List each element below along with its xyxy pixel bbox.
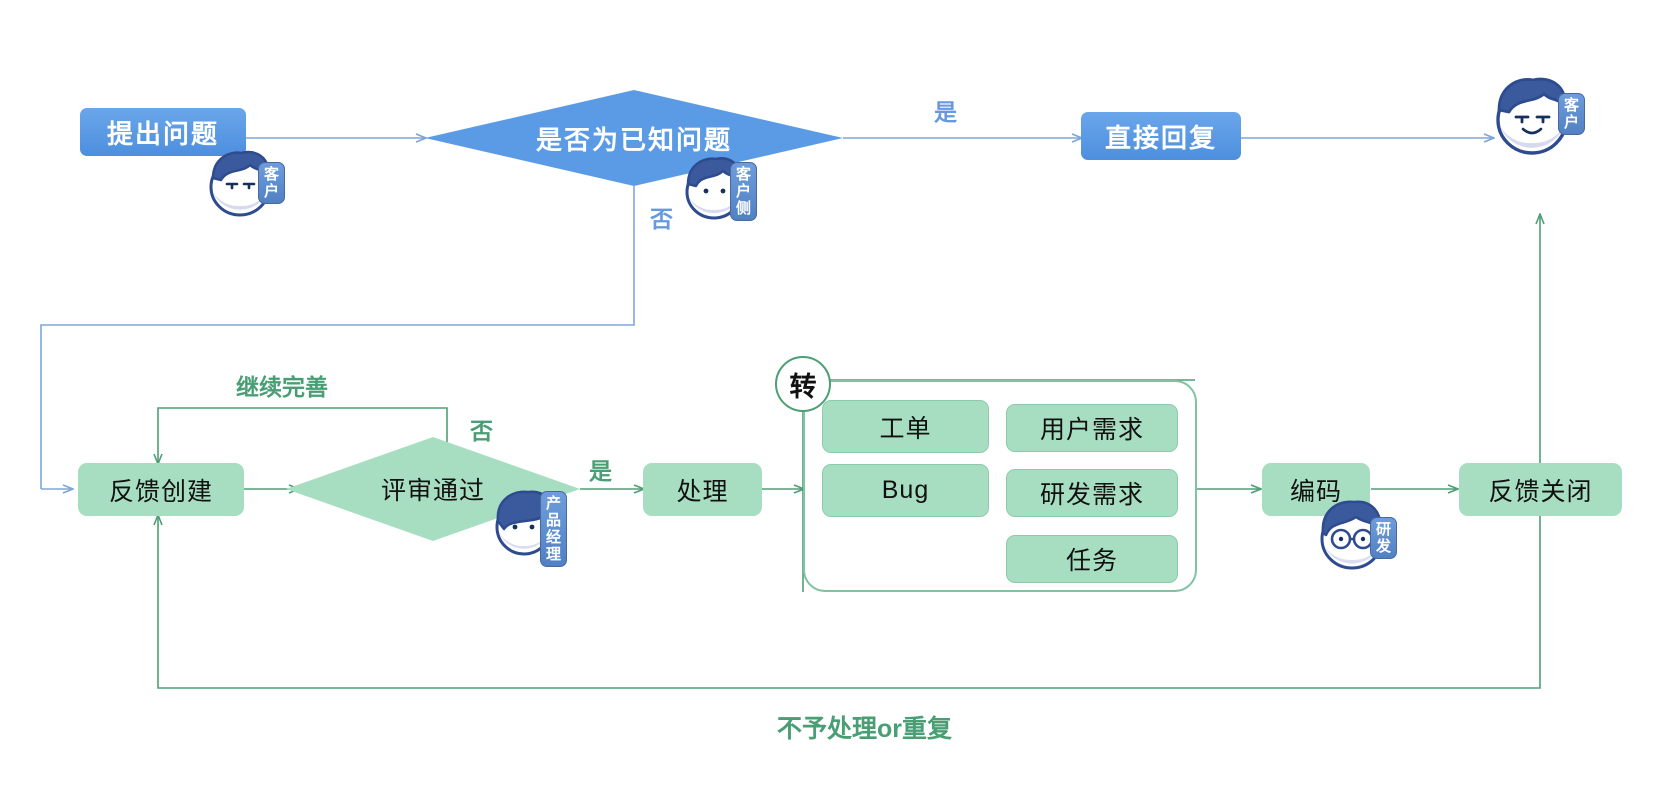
role-badge-customer-side: 客户侧: [730, 162, 757, 221]
role-badge-product-manager: 产品经理: [540, 491, 567, 567]
edge-label-no-top: 否: [650, 200, 673, 234]
edge-label-review-yes: 是: [589, 452, 612, 486]
node-review-pass-label: 评审通过: [381, 471, 485, 507]
node-direct-reply[interactable]: 直接回复: [1081, 112, 1241, 160]
avatar-developer: 研发: [1312, 489, 1398, 575]
edge-decision-no: [41, 186, 634, 489]
avatar-customer-left: 客户: [200, 140, 280, 220]
node-known-issue-decision[interactable]: 是否为已知问题: [425, 90, 843, 186]
role-badge-customer-right: 客户: [1558, 93, 1585, 135]
node-dev-requirement[interactable]: 研发需求: [1006, 469, 1178, 517]
node-feedback-create[interactable]: 反馈创建: [78, 463, 244, 516]
node-bug[interactable]: Bug: [822, 464, 989, 517]
avatar-customer-side: 客户侧: [678, 148, 752, 222]
node-work-order[interactable]: 工单: [822, 400, 989, 453]
avatar-product-manager: 产品经理: [488, 481, 566, 559]
node-feedback-close[interactable]: 反馈关闭: [1459, 463, 1622, 516]
node-user-requirement[interactable]: 用户需求: [1006, 404, 1178, 452]
flowchart-canvas: 提出问题 客户 是否为已知问题 客户侧 直接回复: [0, 0, 1671, 791]
role-badge-customer-left: 客户: [258, 162, 285, 204]
edge-label-bottom-note: 不予处理or重复: [777, 709, 952, 745]
edge-label-continue-improve: 继续完善: [236, 368, 328, 402]
avatar-customer-right: 客户: [1486, 65, 1580, 159]
role-badge-developer: 研发: [1370, 517, 1397, 559]
node-handle[interactable]: 处理: [643, 463, 762, 516]
node-task[interactable]: 任务: [1006, 535, 1178, 583]
edge-label-review-no: 否: [470, 412, 493, 446]
edge-label-yes-top: 是: [934, 93, 957, 127]
